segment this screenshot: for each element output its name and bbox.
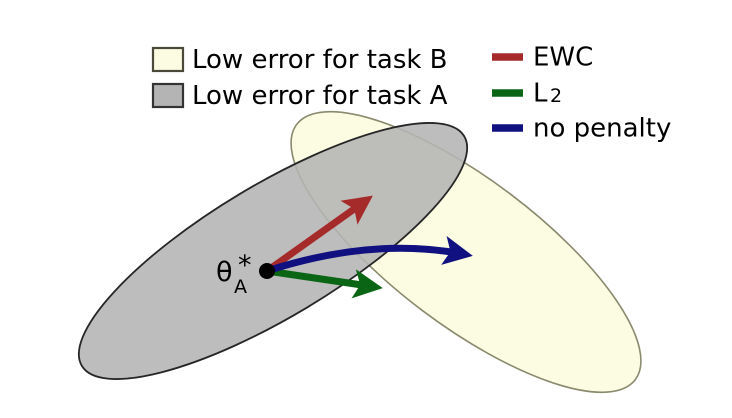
legend-swatch-task-a xyxy=(153,84,183,107)
theta-a-star-label-superscript: * xyxy=(238,250,252,281)
theta-a-star-point xyxy=(259,263,275,279)
legend-label-task-a: Low error for task A xyxy=(192,81,448,111)
legend-label-l2-subscript: 2 xyxy=(550,85,562,107)
legend-swatch-task-b xyxy=(153,48,183,71)
parameter-space-diagram: θ A * Low error for task B Low error for… xyxy=(0,0,732,418)
legend-label-ewc: EWC xyxy=(533,43,593,73)
theta-a-star-label-base: θ xyxy=(216,257,233,288)
legend-item-low-error-task-a[interactable]: Low error for task A xyxy=(153,81,448,111)
legend-item-low-error-task-b[interactable]: Low error for task B xyxy=(153,45,448,75)
legend-label-task-b: Low error for task B xyxy=(192,45,448,75)
figure-root: θ A * Low error for task B Low error for… xyxy=(0,0,732,418)
legend-label-no-penalty: no penalty xyxy=(533,114,671,144)
legend-label-l2: L xyxy=(533,79,548,109)
